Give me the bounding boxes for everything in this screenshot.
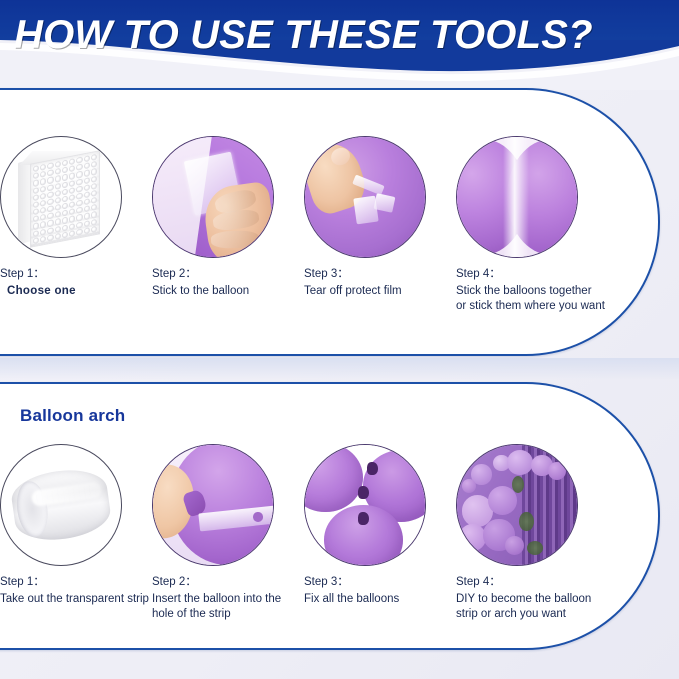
step-description: Choose one: [0, 284, 150, 299]
step-description: Take out the transparent strip: [0, 592, 150, 607]
step-description: Fix all the balloons: [304, 592, 454, 607]
step-image-hand-sticking-film: [152, 136, 274, 258]
step-label: Step 3：: [304, 267, 454, 282]
step-image-tape-roll: [0, 444, 122, 566]
step-item: Step 2： Stick to the balloon: [152, 136, 302, 314]
two-balloons-icon: [457, 137, 577, 257]
step-label: Step 1：: [0, 267, 150, 282]
hand-film-balloon-icon: [153, 137, 273, 257]
step-item: Step 3： Fix all the balloons: [304, 444, 454, 622]
step-label: Step 3：: [304, 575, 454, 590]
steps-row-glue-dots: Step 1： Choose one: [0, 136, 648, 314]
step-label: Step 4：: [456, 267, 606, 282]
header-banner: HOW TO USE THESE TOOLS?: [0, 0, 679, 90]
panel-balloon-arch: Balloon arch Step 1： Take out the transp…: [0, 382, 660, 650]
step-description: Insert the balloon into the hole of the …: [152, 592, 302, 622]
step-image-two-balloons: [456, 136, 578, 258]
step-description: Stick to the balloon: [152, 284, 302, 299]
balloons-fixed-together-icon: [305, 445, 425, 565]
step-item: Step 1： Take out the transparent strip: [0, 444, 150, 622]
step-image-balloon-arch-decoration: [456, 444, 578, 566]
panel-glue-dots: Step 1： Choose one: [0, 88, 660, 356]
step-item: Step 4： Stick the balloons together or s…: [456, 136, 606, 314]
fingers-peeling-film-icon: [305, 137, 425, 257]
panel-heading-balloon-arch: Balloon arch: [20, 406, 125, 426]
steps-row-balloon-arch: Step 1： Take out the transparent strip S…: [0, 444, 648, 622]
infographic-page: HOW TO USE THESE TOOLS?: [0, 0, 679, 679]
page-title: HOW TO USE THESE TOOLS?: [14, 8, 674, 62]
step-image-glue-dot-sheet: [0, 136, 122, 258]
step-description: Tear off protect film: [304, 284, 454, 299]
step-label: Step 2：: [152, 267, 302, 282]
step-item: Step 4： DIY to become the balloon strip …: [456, 444, 606, 622]
step-item: Step 3： Tear off protect film: [304, 136, 454, 314]
step-image-peeling-film: [304, 136, 426, 258]
purple-balloon-arch-icon: [457, 445, 577, 565]
step-image-balloons-fixed: [304, 444, 426, 566]
step-description: Stick the balloons together or stick the…: [456, 284, 606, 314]
step-item: Step 2： Insert the balloon into the hole…: [152, 444, 302, 622]
step-image-insert-balloon: [152, 444, 274, 566]
step-label: Step 1：: [0, 575, 150, 590]
step-label: Step 4：: [456, 575, 606, 590]
glue-dot-sheet-icon: [18, 151, 104, 243]
hand-inserting-balloon-icon: [153, 445, 273, 565]
transparent-tape-roll-icon: [9, 465, 114, 546]
step-label: Step 2：: [152, 575, 302, 590]
step-item: Step 1： Choose one: [0, 136, 150, 314]
step-description: DIY to become the balloon strip or arch …: [456, 592, 606, 622]
panel-divider: [0, 358, 679, 380]
